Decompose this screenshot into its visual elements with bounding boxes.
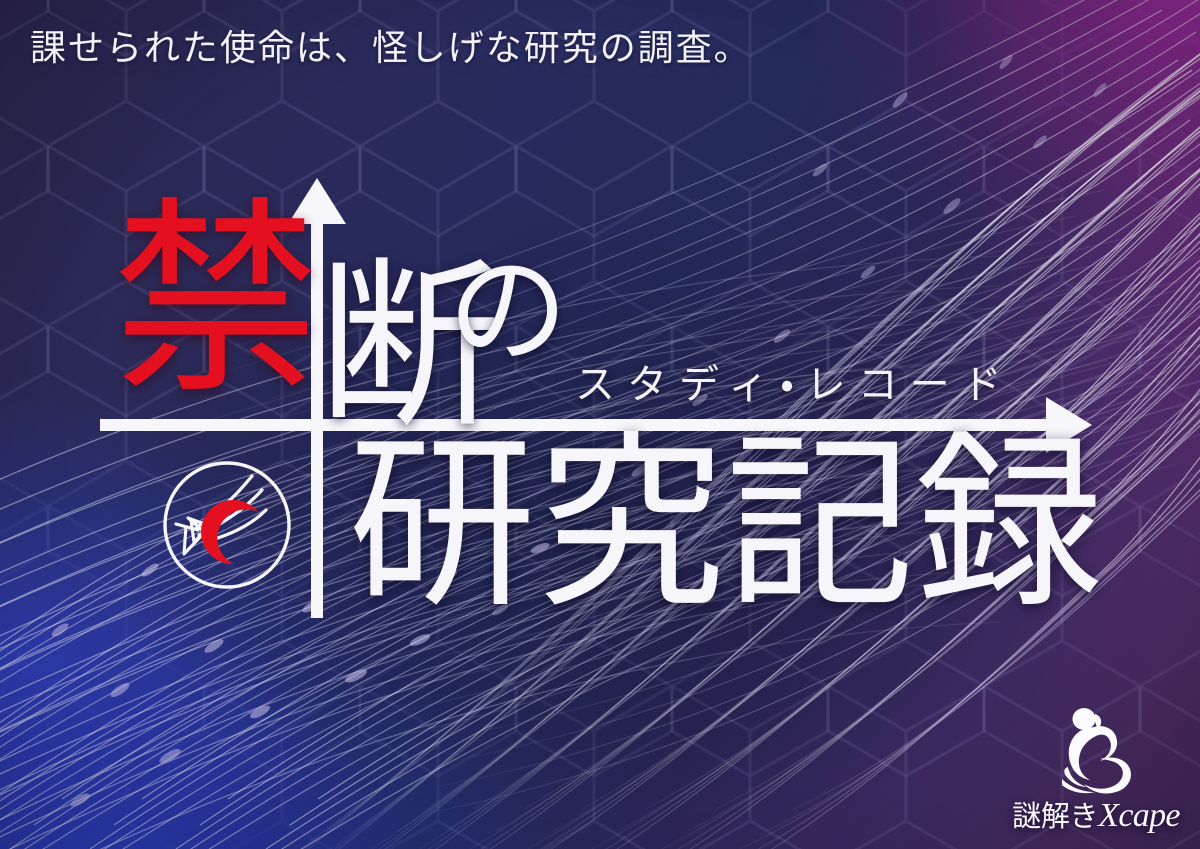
title-line-two: 研究記録 bbox=[348, 432, 1104, 620]
brand-logo[interactable]: 謎解きXcape bbox=[1012, 705, 1180, 835]
shooting-star-crescent-emblem bbox=[158, 456, 296, 594]
title-kanji-accent: 禁 bbox=[112, 198, 320, 406]
tagline: 課せられた使命は、怪しげな研究の調査。 bbox=[30, 26, 752, 71]
title-particle-no: の bbox=[448, 252, 568, 372]
brand-name: 謎解きXcape bbox=[1012, 793, 1180, 835]
brand-name-latin: Xcape bbox=[1098, 797, 1180, 834]
seated-figure-icon bbox=[1046, 705, 1146, 797]
poster-canvas: 課せられた使命は、怪しげな研究の調査。 禁 断 の 研究記録 スタディ・レコード bbox=[0, 0, 1200, 849]
brand-name-ja: 謎解き bbox=[1012, 801, 1098, 833]
subtitle-katakana: スタディ・レコード bbox=[575, 352, 1014, 410]
